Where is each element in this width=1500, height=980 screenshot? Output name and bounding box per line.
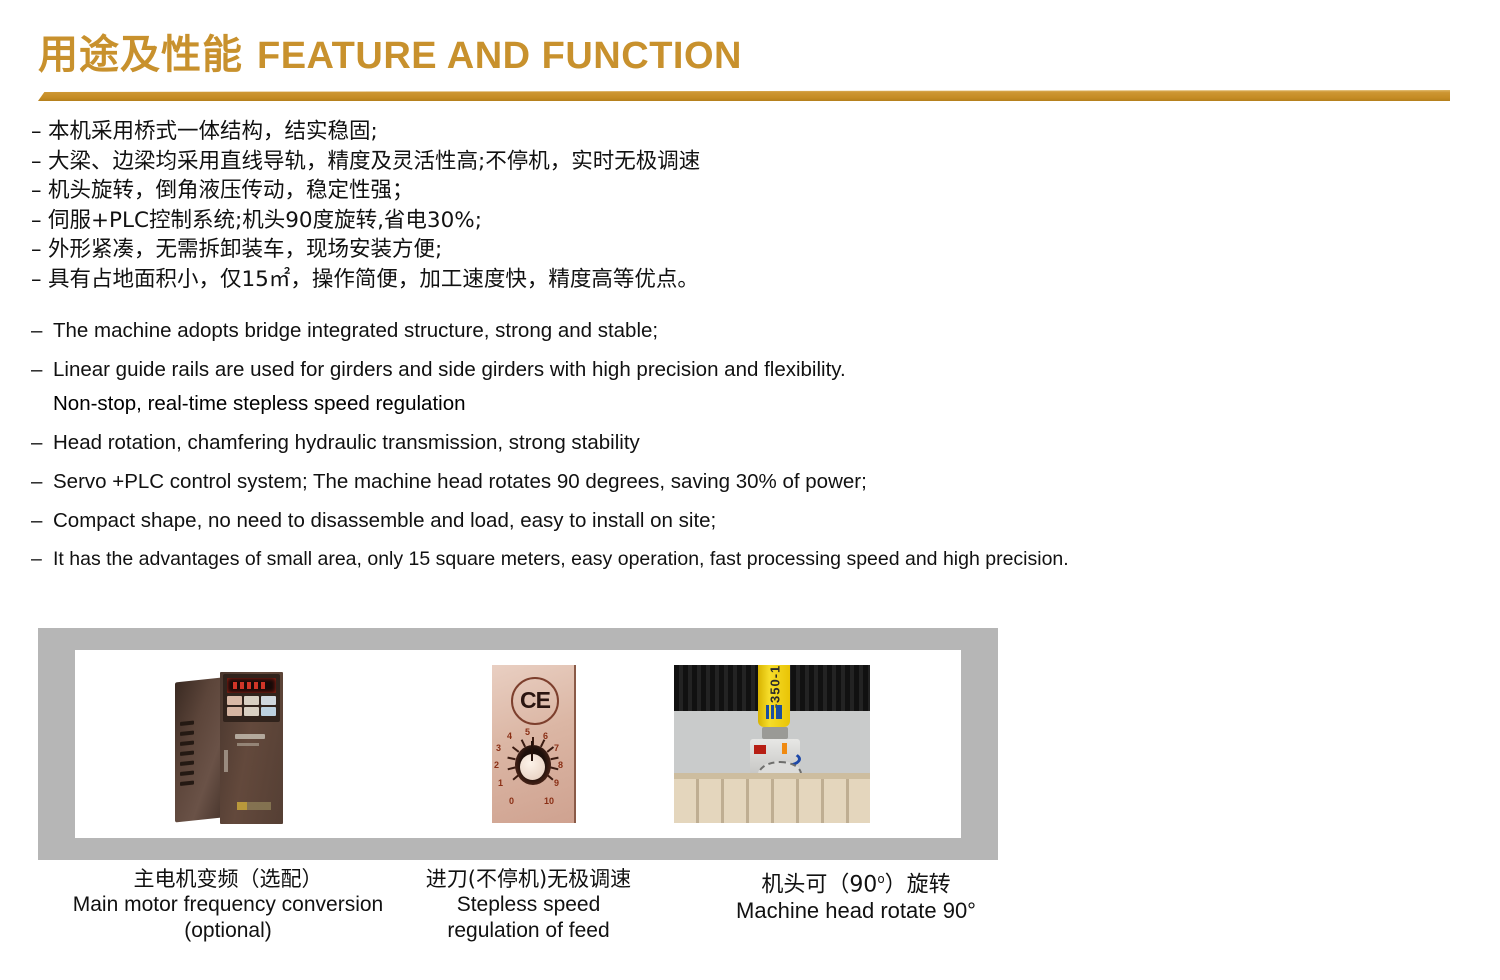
vfd-fins-icon — [180, 720, 194, 791]
caption-degree-sup: o — [877, 872, 884, 886]
vfd-key — [227, 696, 242, 705]
image-gallery-panel: CE 0 1 2 3 4 — [75, 650, 961, 838]
vfd-key — [244, 707, 259, 716]
caption-machine-head: 机头可（90o）旋转 Machine head rotate 90° — [666, 866, 1046, 924]
caption-cn-a: 机头可（90 — [761, 872, 877, 897]
page-header: 用途及性能 FEATURE AND FUNCTION — [38, 22, 1458, 80]
machine-warning-sticker-icon — [754, 745, 766, 754]
page-title-cn: 用途及性能 — [38, 22, 243, 80]
caption-cn: 机头可（90o）旋转 — [666, 866, 1046, 898]
stone-slabs — [674, 773, 870, 823]
vfd-vent-strip — [224, 750, 228, 772]
dash-bullet-icon: – — [31, 265, 48, 295]
knob-number: 7 — [554, 743, 559, 753]
list-item: – 伺服+PLC控制系统;机头90度旋转,省电30%; — [31, 206, 1451, 236]
list-item-label: Compact shape, no need to disassemble an… — [53, 508, 716, 533]
knob-number: 8 — [558, 760, 563, 770]
ce-mark-ring-icon: CE — [511, 677, 559, 725]
list-item: – It has the advantages of small area, o… — [31, 547, 1481, 572]
vfd-key — [261, 707, 276, 716]
list-item: – 本机采用桥式一体结构，结实稳固; — [31, 117, 1451, 147]
chinese-feature-list: – 本机采用桥式一体结构，结实稳固; – 大梁、边梁均采用直线导轨，精度及灵活性… — [31, 117, 1451, 294]
machine-brand-logo-icon — [766, 705, 782, 719]
dash-bullet-icon: – — [31, 508, 53, 533]
list-item: – Head rotation, chamfering hydraulic tr… — [31, 430, 1481, 455]
knob-number: 9 — [554, 778, 559, 788]
dash-bullet-icon: – — [31, 206, 48, 236]
ce-mark-label: CE — [513, 687, 557, 714]
dash-bullet-icon: – — [31, 117, 48, 147]
vfd-heatsink — [175, 678, 222, 823]
list-item-continuation: Non-stop, real-time stepless speed regul… — [53, 391, 1481, 416]
dash-bullet-icon: – — [31, 469, 53, 494]
page-title-en: FEATURE AND FUNCTION — [257, 35, 742, 78]
knob-number: 6 — [543, 731, 548, 741]
list-item-label: It has the advantages of small area, onl… — [53, 547, 1069, 572]
vfd-brand-logo-icon — [235, 734, 265, 739]
knob-number: 5 — [525, 727, 530, 737]
dash-bullet-icon: – — [31, 318, 53, 343]
list-item: – Servo +PLC control system; The machine… — [31, 469, 1481, 494]
caption-en-line2: regulation of feed — [386, 918, 671, 944]
knob-pointer-icon — [531, 741, 533, 761]
caption-cn: 主电机变频（选配） — [38, 866, 418, 892]
vfd-led-display — [227, 678, 276, 693]
caption-vfd: 主电机变频（选配） Main motor frequency conversio… — [38, 866, 418, 944]
page-title: 用途及性能 FEATURE AND FUNCTION — [38, 22, 1458, 80]
english-feature-list: – The machine adopts bridge integrated s… — [31, 318, 1481, 586]
dash-bullet-icon: – — [31, 235, 48, 265]
list-item-label: 外形紧凑，无需拆卸装车，现场安装方便; — [48, 235, 442, 265]
list-item-label: Servo +PLC control system; The machine h… — [53, 469, 867, 494]
vfd-brand-sublabel — [237, 743, 259, 746]
list-item: – 外形紧凑，无需拆卸装车，现场安装方便; — [31, 235, 1451, 265]
vfd-keypad — [227, 696, 277, 716]
caption-cn: 进刀(不停机)无极调速 — [386, 866, 671, 892]
list-item-label: 具有占地面积小，仅15㎡，操作简便，加工速度快，精度高等优点。 — [48, 265, 699, 295]
knob-number: 0 — [509, 796, 514, 806]
caption-en-line1: Machine head rotate 90° — [666, 898, 1046, 924]
list-item-label: 伺服+PLC控制系统;机头90度旋转,省电30%; — [48, 206, 482, 236]
image-gallery-frame: CE 0 1 2 3 4 — [38, 628, 998, 860]
caption-en-line1: Main motor frequency conversion — [38, 892, 418, 918]
title-divider-rule — [38, 90, 1450, 101]
caption-dial: 进刀(不停机)无极调速 Stepless speed regulation of… — [386, 866, 671, 944]
speed-knob — [509, 741, 557, 795]
caption-en-line1: Stepless speed — [386, 892, 671, 918]
vfd-key — [244, 696, 259, 705]
knob-number: 4 — [507, 731, 512, 741]
list-item-label: The machine adopts bridge integrated str… — [53, 318, 658, 343]
list-item-label: 大梁、边梁均采用直线导轨，精度及灵活性高;不停机，实时无极调速 — [48, 147, 700, 177]
list-item: – Linear guide rails are used for girder… — [31, 357, 1481, 416]
vfd-key — [261, 696, 276, 705]
knob-number: 1 — [498, 778, 503, 788]
vfd-control-panel — [223, 674, 280, 722]
photo-machine-head: -350-1 — [674, 665, 870, 823]
vfd-warning-label-icon — [237, 802, 271, 810]
list-item: – 机头旋转，倒角液压传动，稳定性强； — [31, 176, 1451, 206]
dash-bullet-icon: – — [31, 357, 53, 382]
caption-en-line2: (optional) — [38, 918, 418, 944]
list-item: – 具有占地面积小，仅15㎡，操作简便，加工速度快，精度高等优点。 — [31, 265, 1451, 295]
list-item-label: Head rotation, chamfering hydraulic tran… — [53, 430, 640, 455]
machine-rotation-collar — [762, 727, 788, 739]
list-item: – Compact shape, no need to disassemble … — [31, 508, 1481, 533]
photo-ce-dial: CE 0 1 2 3 4 — [492, 665, 576, 823]
knob-number: 2 — [494, 760, 499, 770]
list-item-label: 机头旋转，倒角液压传动，稳定性强； — [48, 176, 414, 206]
list-item-main: – Linear guide rails are used for girder… — [31, 357, 1481, 382]
list-item-label: Linear guide rails are used for girders … — [53, 357, 846, 382]
list-item: – The machine adopts bridge integrated s… — [31, 318, 1481, 343]
photo-vfd-drive — [165, 664, 295, 824]
knob-number: 3 — [496, 743, 501, 753]
dash-bullet-icon: – — [31, 430, 53, 455]
dash-bullet-icon: – — [31, 176, 48, 206]
vfd-key — [227, 707, 242, 716]
dash-bullet-icon: – — [31, 547, 53, 572]
list-item-label: 本机采用桥式一体结构，结实稳固; — [48, 117, 378, 147]
dash-bullet-icon: – — [31, 147, 48, 177]
knob-number: 10 — [544, 796, 554, 806]
list-item: – 大梁、边梁均采用直线导轨，精度及灵活性高;不停机，实时无极调速 — [31, 147, 1451, 177]
caption-cn-b: ）旋转 — [885, 872, 951, 897]
